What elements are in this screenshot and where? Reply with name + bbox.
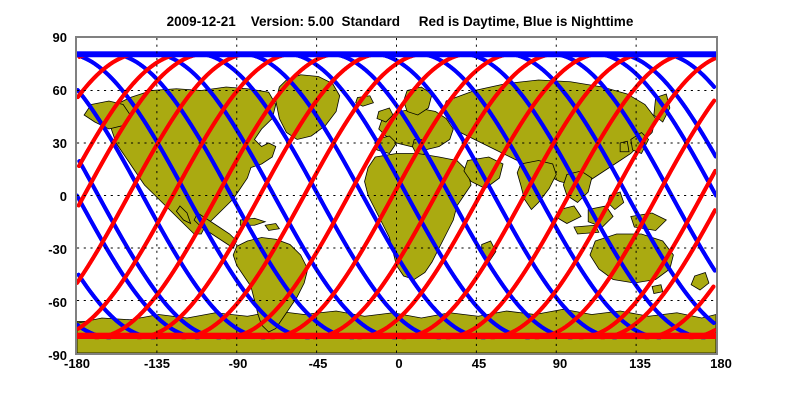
y-tick-60: 60 — [31, 84, 67, 97]
x-tick--180: -180 — [47, 357, 107, 370]
map-canvas — [77, 38, 716, 353]
x-tick--135: -135 — [127, 357, 187, 370]
figure-title: 2009-12-21 Version: 5.00 Standard Red is… — [0, 14, 800, 29]
y-tick-90: 90 — [31, 31, 67, 44]
x-tick-45: 45 — [449, 357, 509, 370]
x-tick--45: -45 — [288, 357, 348, 370]
tasmania — [652, 285, 663, 294]
y-tick--60: -60 — [31, 296, 67, 309]
y-tick-0: 0 — [31, 190, 67, 203]
x-tick-180: 180 — [691, 357, 751, 370]
map-plot-area — [75, 36, 718, 355]
x-tick-0: 0 — [369, 357, 429, 370]
ground-track-figure: 2009-12-21 Version: 5.00 Standard Red is… — [0, 0, 800, 400]
x-tick--90: -90 — [208, 357, 268, 370]
y-tick--30: -30 — [31, 243, 67, 256]
y-tick-30: 30 — [31, 137, 67, 150]
map-svg — [77, 38, 716, 353]
x-tick-90: 90 — [530, 357, 590, 370]
x-tick-135: 135 — [610, 357, 670, 370]
